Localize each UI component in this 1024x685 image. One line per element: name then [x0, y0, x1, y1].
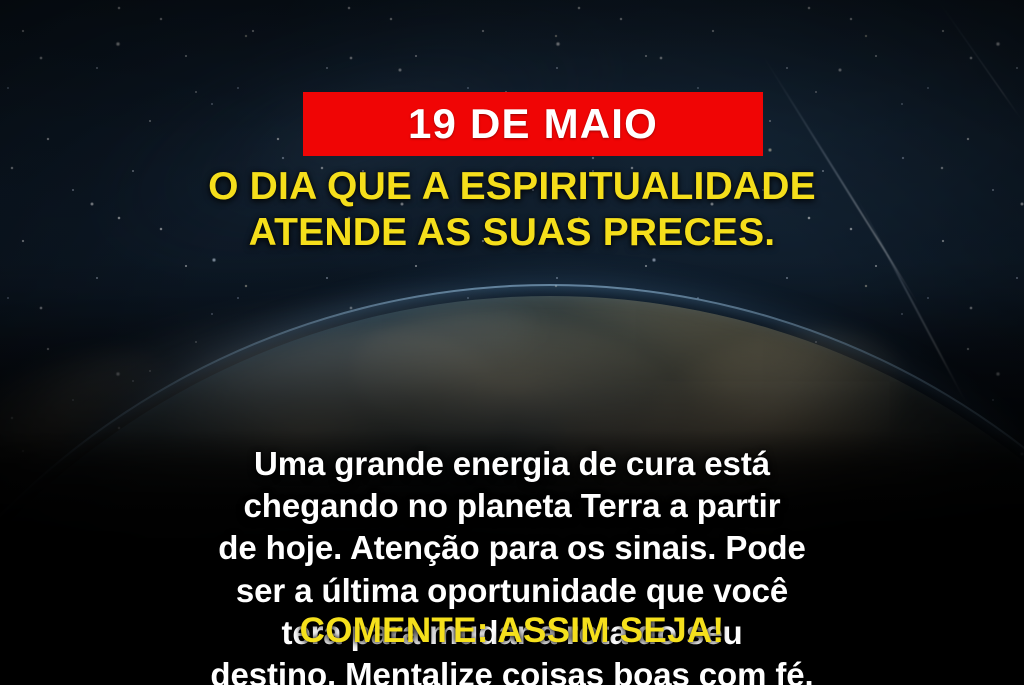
- date-banner-label: 19 DE MAIO: [408, 103, 658, 145]
- body-line-1: Uma grande energia de cura está: [37, 443, 987, 485]
- body-line-3: de hoje. Atenção para os sinais. Pode: [37, 527, 987, 569]
- headline-line-1: O DIA QUE A ESPIRITUALIDADE: [62, 164, 962, 210]
- body-line-6: destino. Mentalize coisas boas com fé.: [37, 654, 987, 685]
- body-line-2: chegando no planeta Terra a partir: [37, 485, 987, 527]
- date-banner: 19 DE MAIO: [303, 92, 763, 156]
- call-to-action-label: COMENTE: ASSIM SEJA!: [62, 612, 962, 651]
- headline-line-2: ATENDE AS SUAS PRECES.: [62, 210, 962, 256]
- poster-content: 19 DE MAIO O DIA QUE A ESPIRITUALIDADE A…: [0, 0, 1024, 685]
- body-line-4: ser a última oportunidade que você: [37, 570, 987, 612]
- headline: O DIA QUE A ESPIRITUALIDADE ATENDE AS SU…: [62, 164, 962, 255]
- poster-canvas: 19 DE MAIO O DIA QUE A ESPIRITUALIDADE A…: [0, 0, 1024, 685]
